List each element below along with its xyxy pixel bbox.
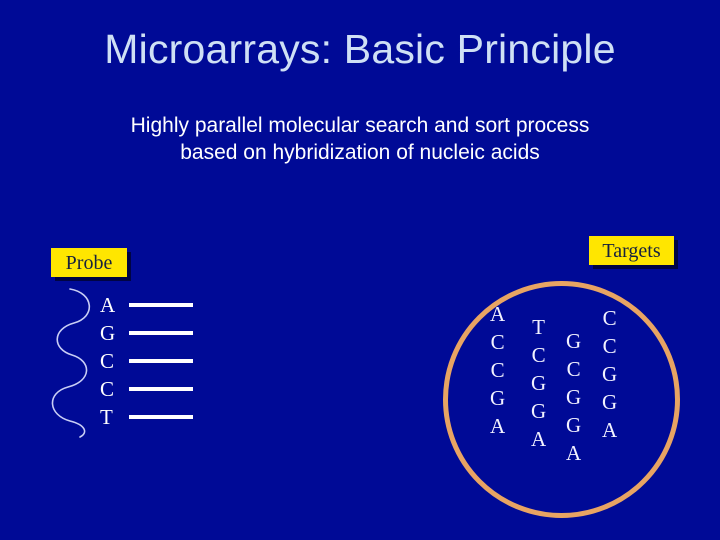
target-base-letter: G: [566, 327, 581, 355]
probe-base-letter: G: [100, 323, 120, 344]
page-title: Microarrays: Basic Principle: [0, 26, 720, 73]
targets-circle-outline: [443, 281, 680, 518]
probe-base-letter: T: [100, 407, 120, 428]
target-strand-column: C C G G A: [602, 304, 617, 444]
probe-base-row: A: [100, 291, 193, 319]
probe-label-text: Probe: [66, 253, 113, 273]
target-strand-column: T C G G A: [531, 313, 546, 453]
probe-base-list: A G C C T: [100, 291, 193, 431]
probe-base-row: C: [100, 347, 193, 375]
probe-backbone-squiggle: [50, 283, 102, 441]
slide-canvas: Microarrays: Basic Principle Highly para…: [0, 0, 720, 540]
target-base-letter: G: [531, 369, 546, 397]
target-base-letter: C: [567, 355, 581, 383]
target-base-letter: A: [490, 300, 505, 328]
probe-base-letter: A: [100, 295, 120, 316]
target-strand-column: A C C G A: [490, 300, 505, 440]
target-base-letter: G: [490, 384, 505, 412]
probe-label-box: Probe: [51, 248, 127, 277]
target-base-letter: T: [532, 313, 545, 341]
probe-base-row: C: [100, 375, 193, 403]
target-base-letter: A: [602, 416, 617, 444]
target-base-letter: G: [566, 383, 581, 411]
target-base-letter: G: [531, 397, 546, 425]
probe-diagram: A G C C T: [50, 283, 210, 443]
target-base-letter: C: [491, 356, 505, 384]
probe-base-row: G: [100, 319, 193, 347]
target-base-letter: C: [603, 332, 617, 360]
probe-base-letter: C: [100, 351, 120, 372]
target-base-letter: C: [532, 341, 546, 369]
probe-strand-bar: [129, 359, 193, 363]
target-strand-column: G C G G A: [566, 327, 581, 467]
targets-label-box: Targets: [589, 236, 674, 265]
target-base-letter: G: [602, 360, 617, 388]
probe-strand-bar: [129, 303, 193, 307]
target-base-letter: C: [491, 328, 505, 356]
probe-strand-bar: [129, 415, 193, 419]
slide-subtitle: Highly parallel molecular search and sor…: [125, 112, 595, 166]
probe-strand-bar: [129, 387, 193, 391]
target-base-letter: A: [531, 425, 546, 453]
target-base-letter: C: [603, 304, 617, 332]
probe-base-letter: C: [100, 379, 120, 400]
probe-base-row: T: [100, 403, 193, 431]
target-base-letter: G: [602, 388, 617, 416]
target-base-letter: A: [566, 439, 581, 467]
target-base-letter: A: [490, 412, 505, 440]
targets-label-text: Targets: [602, 241, 660, 261]
probe-strand-bar: [129, 331, 193, 335]
target-base-letter: G: [566, 411, 581, 439]
